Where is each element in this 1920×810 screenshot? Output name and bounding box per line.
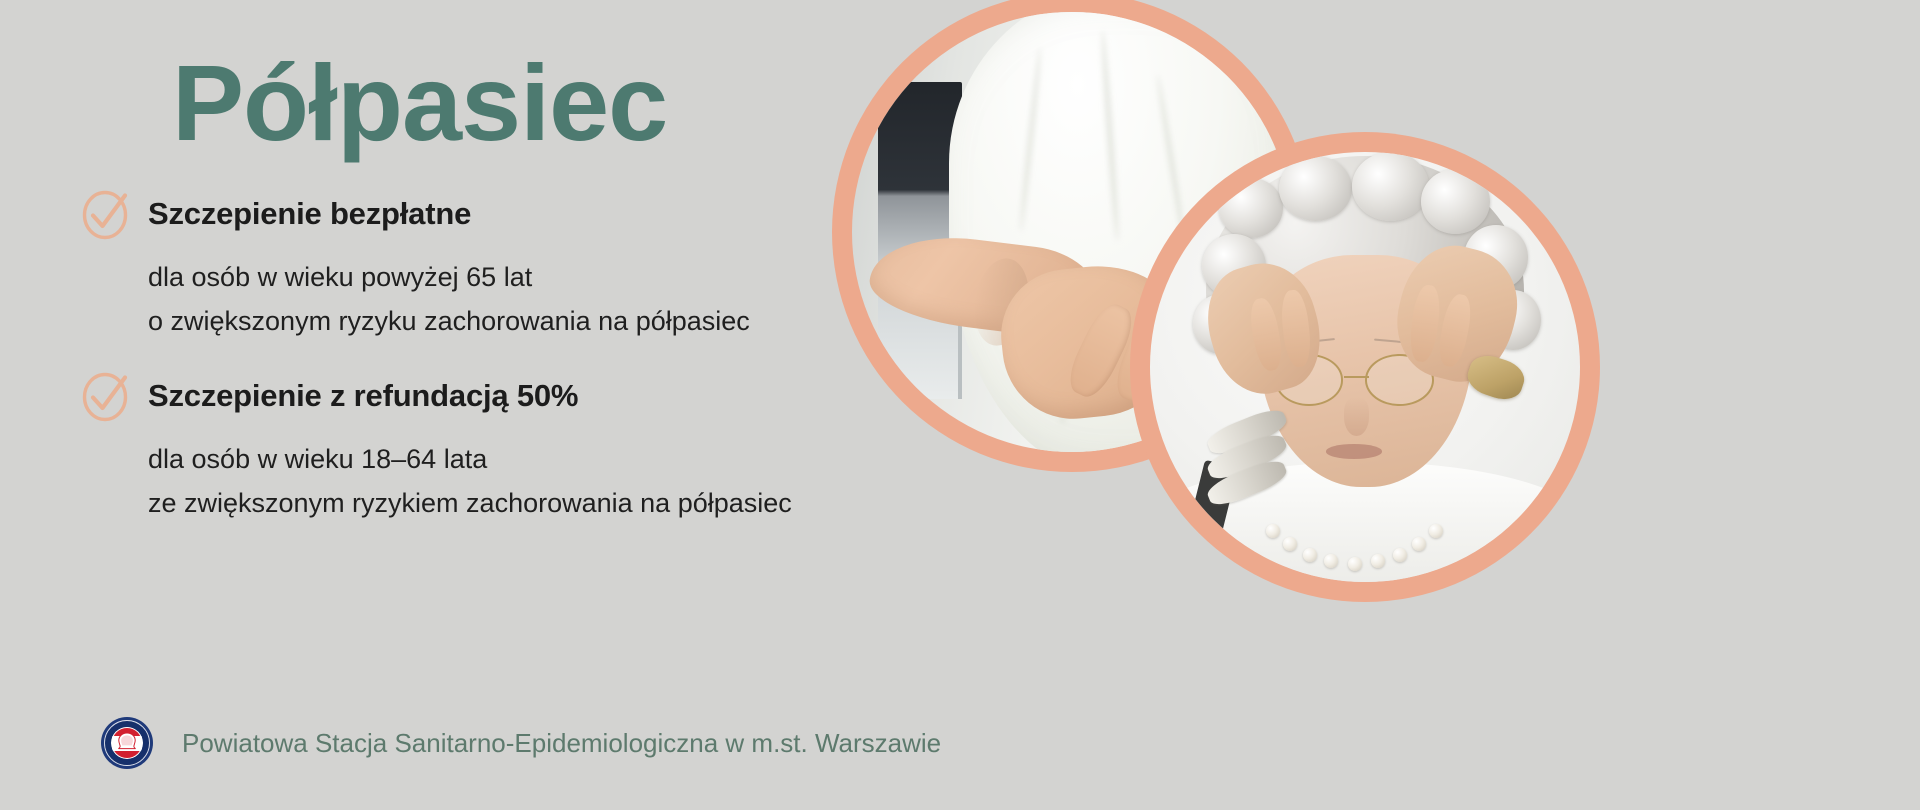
- circle-check-icon: [78, 186, 134, 242]
- page-title: Półpasiec: [172, 46, 667, 159]
- benefit-detail-line: dla osób w wieku powyżej 65 lat: [148, 256, 750, 300]
- nose: [1344, 397, 1370, 436]
- pearl: [1371, 554, 1385, 568]
- hair-curl: [1279, 156, 1352, 221]
- benefit-block-free-vaccination: Szczepienie bezpłatne dla osób w wieku p…: [78, 186, 750, 343]
- pearl: [1324, 554, 1338, 568]
- pearl: [1412, 537, 1426, 551]
- benefit-heading-row: Szczepienie bezpłatne: [78, 186, 750, 242]
- elderly-woman-headache-photo: [1150, 152, 1580, 582]
- pearl: [1429, 524, 1443, 538]
- pearl: [1303, 548, 1317, 562]
- pearl: [1266, 524, 1280, 538]
- benefit-detail-line: ze zwiększonym ryzykiem zachorowania na …: [148, 482, 792, 526]
- circle-check-icon: [78, 368, 134, 424]
- eyeglass-bridge: [1344, 376, 1370, 379]
- hair-curl: [1421, 169, 1490, 234]
- hair-curl: [1219, 178, 1284, 238]
- benefit-heading: Szczepienie z refundacją 50%: [148, 378, 578, 414]
- benefit-detail-line: o zwiększonym ryzyku zachorowania na pół…: [148, 300, 750, 344]
- hair-curl: [1352, 152, 1429, 221]
- benefit-detail-lines: dla osób w wieku 18–64 lata ze zwiększon…: [78, 438, 792, 525]
- footer-organization-name: Powiatowa Stacja Sanitarno-Epidemiologic…: [182, 728, 941, 759]
- mouth: [1326, 444, 1382, 459]
- content-panel: Półpasiec Szczepienie bezpłatne dla osób…: [0, 0, 1020, 810]
- pearl: [1393, 548, 1407, 562]
- benefit-detail-lines: dla osób w wieku powyżej 65 lat o zwięks…: [78, 256, 750, 343]
- pearl: [1283, 537, 1297, 551]
- footer: Powiatowa Stacja Sanitarno-Epidemiologic…: [100, 716, 941, 770]
- polish-sanitary-inspection-seal-icon: [100, 716, 154, 770]
- pearl-necklace: [1262, 513, 1477, 582]
- pearl: [1348, 557, 1362, 571]
- benefit-heading-row: Szczepienie z refundacją 50%: [78, 368, 792, 424]
- benefit-detail-line: dla osób w wieku 18–64 lata: [148, 438, 792, 482]
- benefit-block-reimbursed-vaccination: Szczepienie z refundacją 50% dla osób w …: [78, 368, 792, 525]
- benefit-heading: Szczepienie bezpłatne: [148, 196, 471, 232]
